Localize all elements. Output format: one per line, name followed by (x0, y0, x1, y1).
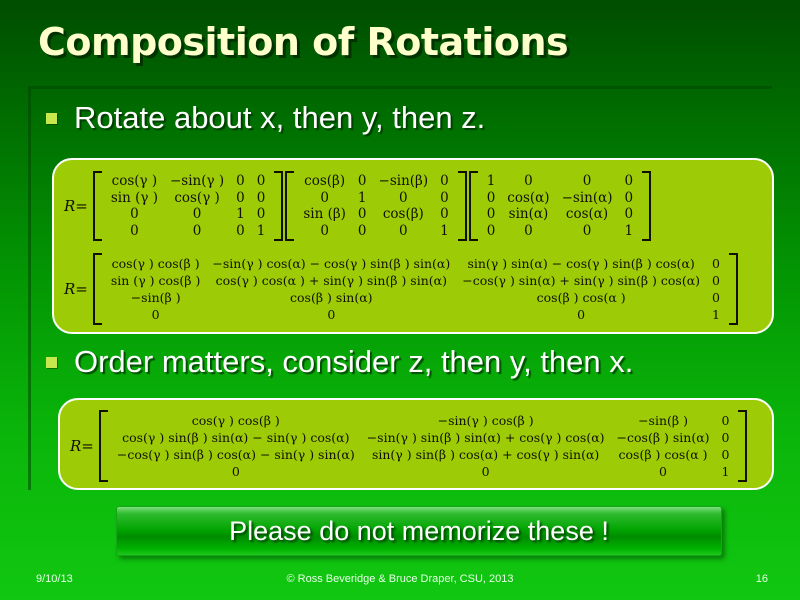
matrix-cell: cos(β ) cos(α ) (611, 446, 716, 463)
matrix-cell: cos(β) (373, 206, 435, 223)
matrix-cell: sin(γ ) sin(α) − cos(γ ) sin(β ) cos(α) (456, 255, 706, 272)
matrix-cell: −sin(γ ) sin(β ) sin(α) + cos(γ ) cos(α) (361, 429, 611, 446)
bullet-item-2-label: Order matters, consider z, then y, then … (74, 344, 633, 380)
title-bar: Composition of Rotations (0, 0, 800, 84)
slide-footer: 9/10/13 © Ross Beveridge & Bruce Draper,… (0, 570, 800, 592)
matrix-cell: 0 (352, 206, 373, 223)
footer-copyright: © Ross Beveridge & Bruce Draper, CSU, 20… (0, 573, 800, 585)
matrix-cell: 1 (716, 463, 736, 480)
matrix-cell: 0 (434, 190, 455, 207)
matrix-cell: 0 (618, 206, 639, 223)
matrix-cell: sin (γ ) (105, 190, 164, 207)
matrix-cell: 0 (230, 190, 251, 207)
equation-composed-zyx: R= cos(γ ) cos(β ) −sin(γ ) cos(β ) −sin… (60, 404, 772, 488)
bracket-right-icon (642, 171, 651, 241)
matrix-cell: 0 (230, 223, 251, 240)
matrix-cell: 0 (373, 190, 435, 207)
bracket-left-icon (93, 171, 102, 241)
matrix-cell: 1 (618, 223, 639, 240)
matrix-cell: sin(α) (501, 206, 555, 223)
matrix-cell: 0 (373, 223, 435, 240)
square-bullet-icon (46, 113, 57, 124)
matrix-cell: 1 (230, 206, 251, 223)
matrix-cell: 0 (251, 206, 272, 223)
matrix-cell: cos(γ ) (164, 190, 230, 207)
matrix-cell: −sin(β) (373, 173, 435, 190)
bullet-item-2: Order matters, consider z, then y, then … (46, 344, 633, 380)
matrix-cell: −cos(β ) sin(α) (611, 429, 716, 446)
matrix-cell: 0 (105, 223, 164, 240)
matrix-cell: −sin(γ ) (164, 173, 230, 190)
slide-canvas: Composition of Rotations Rotate about x,… (0, 0, 800, 600)
matrix-cell: sin (γ ) cos(β ) (105, 272, 207, 289)
matrix-cell: 0 (716, 412, 736, 429)
matrix-cell: 0 (230, 173, 251, 190)
matrix-cell: cos(γ ) cos(β ) (111, 412, 361, 429)
matrix-cell: 0 (352, 173, 373, 190)
matrix-box-zyx: R= cos(γ ) cos(β ) −sin(γ ) cos(β ) −sin… (58, 398, 774, 490)
matrix-cell: sin (β) (297, 206, 352, 223)
square-bullet-icon (46, 357, 57, 368)
matrix-cell: 0 (434, 173, 455, 190)
equation-2-label: R= (54, 280, 92, 298)
bracket-left-icon (285, 171, 294, 241)
equation-3-label: R= (60, 437, 98, 455)
matrix-cell: cos(γ ) sin(β ) sin(α) − sin(γ ) cos(α) (111, 429, 361, 446)
matrix-cell: 0 (481, 223, 502, 240)
matrix-cell: cos(γ ) cos(β ) (105, 255, 207, 272)
footer-page-number: 16 (756, 573, 768, 585)
matrix-cell: cos(β ) sin(α) (206, 289, 456, 306)
matrix-cell: −cos(γ ) sin(β ) cos(α) − sin(γ ) sin(α) (111, 446, 361, 463)
matrix-cell: 0 (361, 463, 611, 480)
matrix-cell: 0 (297, 190, 352, 207)
matrix-cell: −sin(β ) (105, 289, 207, 306)
matrix-cell: −sin(β ) (611, 412, 716, 429)
matrix-cell: 0 (456, 306, 706, 323)
matrix-cell: 1 (481, 173, 502, 190)
matrix-cell: 0 (618, 190, 639, 207)
matrix-cell: 0 (111, 463, 361, 480)
matrix-cell: sin(γ ) sin(β ) cos(α) + cos(γ ) sin(α) (361, 446, 611, 463)
matrix-cell: 0 (611, 463, 716, 480)
bracket-right-icon (729, 253, 738, 325)
page-title: Composition of Rotations (38, 20, 568, 64)
matrix-cell: 0 (206, 306, 456, 323)
matrix-rotation-z-gamma: cos(γ ) −sin(γ ) 0 0 sin (γ ) cos(γ ) 0 … (93, 171, 283, 241)
matrix-cell: 0 (352, 223, 373, 240)
matrix-cell: 0 (716, 446, 736, 463)
matrix-cell: 0 (105, 206, 164, 223)
bracket-right-icon (738, 410, 747, 482)
matrix-cell: cos(β ) cos(α ) (456, 289, 706, 306)
matrix-cell: cos(α) (501, 190, 555, 207)
matrix-composed-zyx-result: cos(γ ) cos(β ) −sin(γ ) cos(β ) −sin(β … (99, 410, 748, 482)
matrix-cell: 1 (706, 306, 726, 323)
bracket-left-icon (469, 171, 478, 241)
matrix-cell: 0 (434, 206, 455, 223)
matrix-rotation-x-alpha: 1 0 0 0 0 cos(α) −sin(α) 0 0 sin(α) cos(… (469, 171, 651, 241)
matrix-cell: 0 (706, 255, 726, 272)
matrix-cell: 0 (556, 223, 619, 240)
matrix-cell: 0 (706, 289, 726, 306)
matrix-cell: cos(α) (556, 206, 619, 223)
matrix-cell: 0 (706, 272, 726, 289)
matrix-cell: 0 (297, 223, 352, 240)
equation-composed-xyz: R= cos(γ ) cos(β ) −sin(γ ) cos(α) − cos… (54, 248, 772, 330)
matrix-cell: cos(γ ) cos(α ) + sin(γ ) sin(β ) sin(α) (206, 272, 456, 289)
bracket-right-icon (274, 171, 283, 241)
bullet-item-1: Rotate about x, then y, then z. (46, 100, 485, 136)
matrix-cell: cos(γ ) (105, 173, 164, 190)
callout-label: Please do not memorize these ! (229, 516, 609, 547)
matrix-box-xyz: R= cos(γ ) −sin(γ ) 0 0 sin (γ ) cos(γ )… (52, 158, 774, 334)
matrix-cell: 1 (251, 223, 272, 240)
matrix-rotation-y-beta: cos(β) 0 −sin(β) 0 0 1 0 0 sin (β) 0 cos… (285, 171, 466, 241)
matrix-composed-xyz-result: cos(γ ) cos(β ) −sin(γ ) cos(α) − cos(γ … (93, 253, 738, 325)
matrix-cell: 1 (352, 190, 373, 207)
matrix-cell: −cos(γ ) sin(α) + sin(γ ) sin(β ) cos(α) (456, 272, 706, 289)
matrix-cell: cos(β) (297, 173, 352, 190)
matrix-cell: 0 (164, 206, 230, 223)
equation-1-label: R= (54, 197, 92, 215)
matrix-cell: −sin(α) (556, 190, 619, 207)
bracket-left-icon (93, 253, 102, 325)
matrix-cell: 0 (481, 190, 502, 207)
equation-rz-ry-rx: R= cos(γ ) −sin(γ ) 0 0 sin (γ ) cos(γ )… (54, 166, 772, 246)
matrix-cell: 0 (501, 173, 555, 190)
matrix-cell: −sin(γ ) cos(β ) (361, 412, 611, 429)
callout-banner: Please do not memorize these ! (116, 506, 722, 556)
matrix-cell: 0 (251, 173, 272, 190)
bracket-left-icon (99, 410, 108, 482)
matrix-cell: 0 (716, 429, 736, 446)
bracket-right-icon (458, 171, 467, 241)
matrix-cell: 0 (164, 223, 230, 240)
matrix-cell: 0 (556, 173, 619, 190)
matrix-cell: 1 (434, 223, 455, 240)
matrix-cell: −sin(γ ) cos(α) − cos(γ ) sin(β ) sin(α) (206, 255, 456, 272)
matrix-cell: 0 (481, 206, 502, 223)
matrix-cell: 0 (105, 306, 207, 323)
matrix-cell: 0 (501, 223, 555, 240)
bullet-item-1-label: Rotate about x, then y, then z. (74, 100, 485, 136)
matrix-cell: 0 (618, 173, 639, 190)
matrix-cell: 0 (251, 190, 272, 207)
